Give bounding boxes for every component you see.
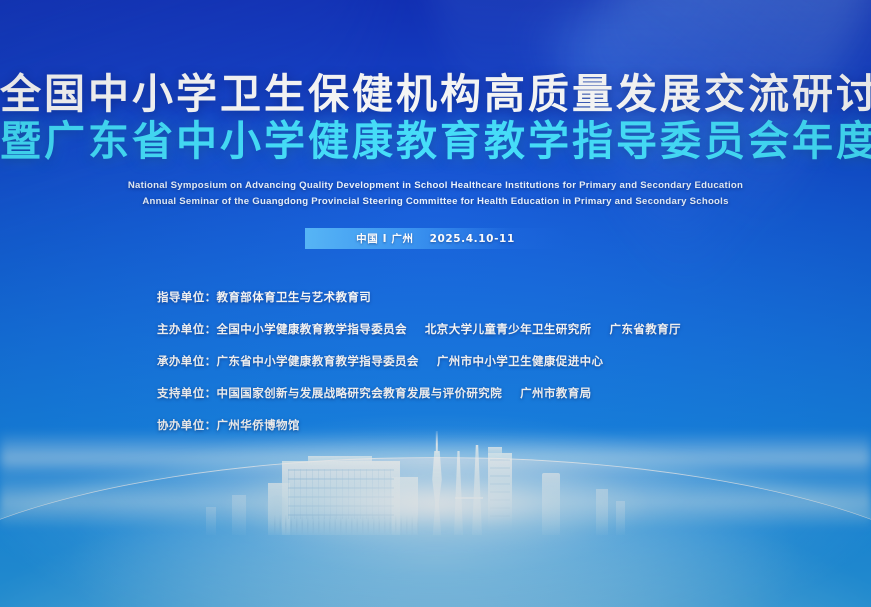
organizer-label: 支持单位： (157, 385, 217, 401)
organizer-row: 指导单位： 教育部体育卫生与艺术教育司 (157, 289, 681, 305)
organizer-value: 广东省教育厅 (610, 321, 681, 337)
organizer-value: 全国中小学健康教育教学指导委员会 (217, 321, 407, 337)
organizer-value: 北京大学儿童青少年卫生研究所 (425, 321, 592, 337)
title-line-2: 暨广东省中小学健康教育教学指导委员会年度研讨活动 (0, 121, 871, 163)
light-sweep-dark (546, 0, 871, 332)
poster-headline: 全国中小学卫生保健机构高质量发展交流研讨活动 暨广东省中小学健康教育教学指导委员… (0, 74, 871, 163)
english-line-1: National Symposium on Advancing Quality … (0, 178, 871, 194)
english-subtitle: National Symposium on Advancing Quality … (0, 178, 871, 209)
canton-tower-spire (436, 431, 438, 453)
organizer-value: 广州市中小学卫生健康促进中心 (437, 353, 604, 369)
date-text: 2025.4.10-11 (430, 233, 515, 245)
ground-arc-glow (226, 459, 646, 549)
organizer-value: 广东省中小学健康教育教学指导委员会 (217, 353, 419, 369)
conference-poster: 全国中小学卫生保健机构高质量发展交流研讨活动 暨广东省中小学健康教育教学指导委员… (0, 0, 871, 607)
organizer-value: 中国国家创新与发展战略研究会教育发展与评价研究院 (217, 385, 503, 401)
organizer-label: 指导单位： (157, 289, 217, 305)
organizer-value: 教育部体育卫生与艺术教育司 (217, 289, 372, 305)
organizer-row: 承办单位： 广东省中小学健康教育教学指导委员会 广州市中小学卫生健康促进中心 (157, 353, 681, 369)
location-text: 中国 I 广州 (356, 231, 413, 246)
organizer-row: 支持单位： 中国国家创新与发展战略研究会教育发展与评价研究院 广州市教育局 (157, 385, 681, 401)
organizer-label: 主办单位： (157, 321, 217, 337)
english-line-2: Annual Seminar of the Guangdong Provinci… (0, 194, 871, 210)
organizer-value: 广州市教育局 (520, 385, 591, 401)
title-line-1: 全国中小学卫生保健机构高质量发展交流研讨活动 (0, 74, 871, 116)
ifc-tower-crown (488, 447, 502, 457)
organizer-row: 主办单位： 全国中小学健康教育教学指导委员会 北京大学儿童青少年卫生研究所 广东… (157, 321, 681, 337)
organizer-label: 承办单位： (157, 353, 217, 369)
location-date-banner: 中国 I 广州 2025.4.10-11 (305, 228, 567, 249)
